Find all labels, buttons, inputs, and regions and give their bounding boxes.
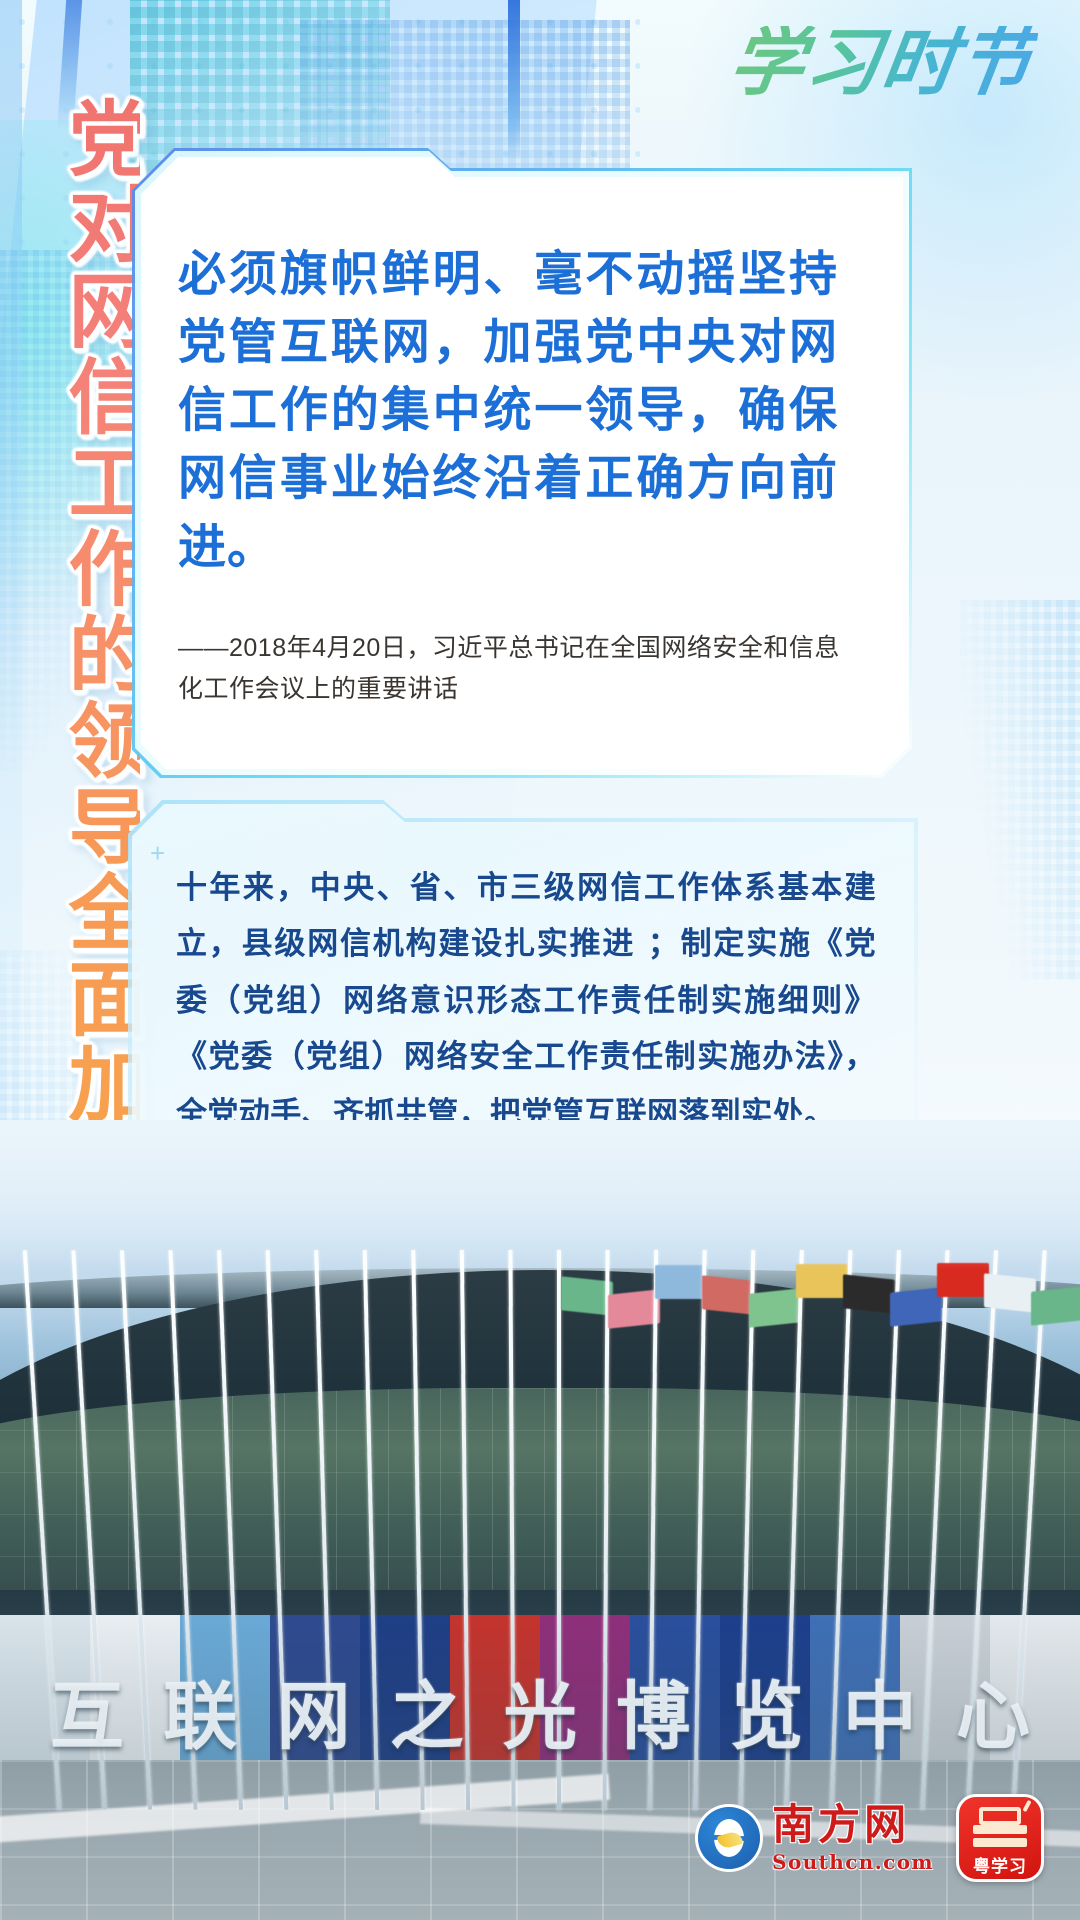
yuexuexi-app-icon[interactable]: 粤学习 — [956, 1794, 1044, 1882]
signage-character: 览 — [730, 1680, 804, 1754]
national-flag — [749, 1288, 801, 1327]
signage-character: 之 — [390, 1680, 464, 1754]
national-flag — [655, 1265, 707, 1299]
yuexuexi-glyph-icon — [973, 1807, 1027, 1847]
photo-top-fade — [0, 1120, 1080, 1270]
southcn-s-mark-icon — [698, 1807, 760, 1869]
national-flag — [890, 1287, 942, 1326]
southcn-cn-name: 南方网 — [772, 1804, 934, 1846]
national-flag — [702, 1275, 754, 1314]
southcn-en-name: Southcn.com — [772, 1852, 934, 1872]
national-flag — [1031, 1286, 1080, 1325]
blue-accent-bar-mid — [508, 0, 520, 160]
quote-source-attribution: ——2018年4月20日，习近平总书记在全国网络安全和信息化工作会议上的重要讲话 — [178, 628, 843, 709]
body-paragraph: 十年来，中央、省、市三级网信工作体系基本建立，县级网信机构建设扎实推进 ；制定实… — [176, 860, 876, 1142]
pixel-grid-decoration-e — [960, 600, 1080, 980]
national-flag — [984, 1273, 1036, 1312]
national-flag — [843, 1274, 895, 1313]
national-flag — [608, 1289, 660, 1328]
signage-character: 博 — [616, 1680, 690, 1754]
expo-center-signage: 互联网之光博览中心 — [50, 1680, 1030, 1754]
signage-character: 中 — [843, 1680, 917, 1754]
poster-vertical-title: 党对网信工作的领导全面加强 — [28, 96, 140, 1214]
signage-character: 光 — [503, 1680, 577, 1754]
plus-decoration-icon: + — [150, 838, 165, 869]
yuexuexi-label: 粤学习 — [973, 1852, 1027, 1877]
signage-character: 心 — [956, 1680, 1030, 1754]
signage-character: 互 — [50, 1680, 124, 1754]
signage-character: 联 — [163, 1680, 237, 1754]
program-logo: 学习时节 — [725, 26, 1039, 100]
quote-text: 必须旗帜鲜明、毫不动摇坚持党管互联网，加强党中央对网信工作的集中统一领导，确保网… — [178, 240, 838, 581]
signage-character: 网 — [277, 1680, 351, 1754]
footer-logos: 南方网 Southcn.com 粤学习 — [698, 1792, 1044, 1884]
quote-card: 必须旗帜鲜明、毫不动摇坚持党管互联网，加强党中央对网信工作的集中统一领导，确保网… — [132, 148, 912, 778]
southcn-logo-text: 南方网 Southcn.com — [772, 1804, 934, 1872]
southcn-logo[interactable]: 南方网 Southcn.com — [698, 1804, 934, 1872]
